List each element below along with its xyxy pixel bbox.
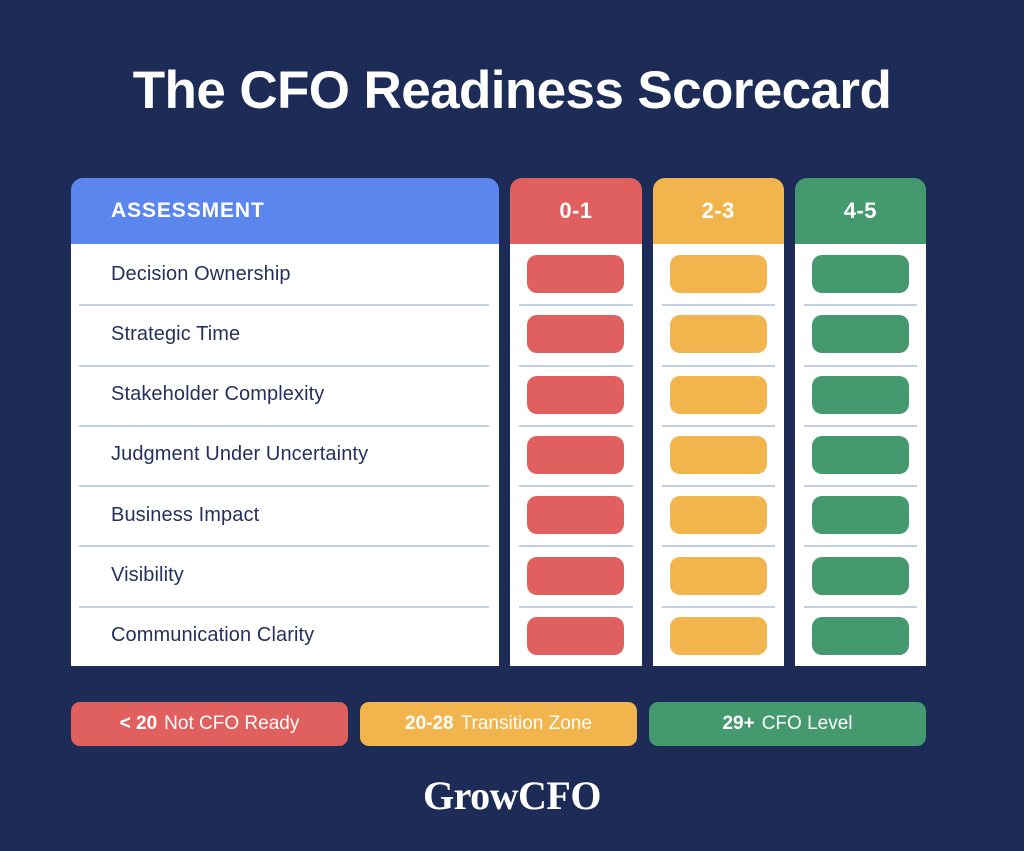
score-checkbox-pill[interactable] <box>812 557 909 595</box>
score-checkbox-pill[interactable] <box>670 557 767 595</box>
score-cell[interactable] <box>795 425 926 485</box>
row-label: Business Impact <box>111 504 259 527</box>
score-checkbox-pill[interactable] <box>670 315 767 353</box>
row-label: Judgment Under Uncertainty <box>111 443 368 466</box>
score-checkbox-pill[interactable] <box>527 315 624 353</box>
scorecard-table: ASSESSMENT Decision Ownership Strategic … <box>71 178 926 666</box>
assessment-column-body: Decision Ownership Strategic Time Stakeh… <box>71 244 499 666</box>
score-cell[interactable] <box>795 244 926 304</box>
legend-label: Not CFO Ready <box>164 713 299 735</box>
score-column-header: 4-5 <box>795 178 926 244</box>
legend-item-cfo-level: 29+ CFO Level <box>649 702 926 746</box>
score-checkbox-pill[interactable] <box>527 617 624 655</box>
scorecard-poster: The CFO Readiness Scorecard ASSESSMENT D… <box>0 0 1024 851</box>
score-cell[interactable] <box>510 606 641 666</box>
score-cell[interactable] <box>653 485 784 545</box>
score-cell[interactable] <box>653 365 784 425</box>
score-checkbox-pill[interactable] <box>670 376 767 414</box>
score-column-body <box>510 244 641 666</box>
legend-label: Transition Zone <box>461 713 592 735</box>
score-column-0-1: 0-1 <box>510 178 641 666</box>
brand-logo: GrowCFO <box>0 772 1024 819</box>
score-checkbox-pill[interactable] <box>527 376 624 414</box>
score-checkbox-pill[interactable] <box>812 315 909 353</box>
score-cell[interactable] <box>510 485 641 545</box>
score-cell[interactable] <box>510 244 641 304</box>
assessment-column: ASSESSMENT Decision Ownership Strategic … <box>71 178 499 666</box>
score-column-4-5: 4-5 <box>795 178 926 666</box>
score-checkbox-pill[interactable] <box>527 255 624 293</box>
table-row: Decision Ownership <box>71 244 499 304</box>
legend-label: CFO Level <box>762 713 853 735</box>
score-cell[interactable] <box>653 606 784 666</box>
row-label: Stakeholder Complexity <box>111 383 324 406</box>
score-checkbox-pill[interactable] <box>670 436 767 474</box>
score-column-body <box>653 244 784 666</box>
score-checkbox-pill[interactable] <box>812 376 909 414</box>
score-cell[interactable] <box>795 485 926 545</box>
score-column-2-3: 2-3 <box>653 178 784 666</box>
score-cell[interactable] <box>653 304 784 364</box>
score-checkbox-pill[interactable] <box>812 436 909 474</box>
table-row: Strategic Time <box>71 304 499 364</box>
score-cell[interactable] <box>795 545 926 605</box>
row-label: Communication Clarity <box>111 624 314 647</box>
score-checkbox-pill[interactable] <box>527 436 624 474</box>
table-row: Business Impact <box>71 485 499 545</box>
legend-item-transition-zone: 20-28 Transition Zone <box>360 702 637 746</box>
row-label: Visibility <box>111 564 184 587</box>
score-cell[interactable] <box>510 545 641 605</box>
row-label: Strategic Time <box>111 323 240 346</box>
table-row: Judgment Under Uncertainty <box>71 425 499 485</box>
score-column-body <box>795 244 926 666</box>
table-row: Communication Clarity <box>71 606 499 666</box>
score-cell[interactable] <box>510 304 641 364</box>
score-checkbox-pill[interactable] <box>670 496 767 534</box>
assessment-column-header: ASSESSMENT <box>71 178 499 244</box>
score-legend: < 20 Not CFO Ready 20-28 Transition Zone… <box>71 702 926 746</box>
legend-range: 29+ <box>722 713 754 735</box>
score-checkbox-pill[interactable] <box>527 557 624 595</box>
score-checkbox-pill[interactable] <box>670 617 767 655</box>
score-cell[interactable] <box>653 244 784 304</box>
score-cell[interactable] <box>795 365 926 425</box>
score-cell[interactable] <box>510 365 641 425</box>
score-checkbox-pill[interactable] <box>670 255 767 293</box>
score-cell[interactable] <box>795 304 926 364</box>
score-checkbox-pill[interactable] <box>812 255 909 293</box>
score-column-header: 0-1 <box>510 178 641 244</box>
page-title: The CFO Readiness Scorecard <box>0 62 1024 120</box>
legend-range: < 20 <box>120 713 158 735</box>
table-row: Stakeholder Complexity <box>71 365 499 425</box>
score-cell[interactable] <box>510 425 641 485</box>
score-checkbox-pill[interactable] <box>812 496 909 534</box>
score-column-header: 2-3 <box>653 178 784 244</box>
row-label: Decision Ownership <box>111 263 291 286</box>
score-cell[interactable] <box>795 606 926 666</box>
table-row: Visibility <box>71 545 499 605</box>
score-cell[interactable] <box>653 425 784 485</box>
score-checkbox-pill[interactable] <box>527 496 624 534</box>
legend-range: 20-28 <box>405 713 454 735</box>
legend-item-not-cfo-ready: < 20 Not CFO Ready <box>71 702 348 746</box>
score-checkbox-pill[interactable] <box>812 617 909 655</box>
score-cell[interactable] <box>653 545 784 605</box>
